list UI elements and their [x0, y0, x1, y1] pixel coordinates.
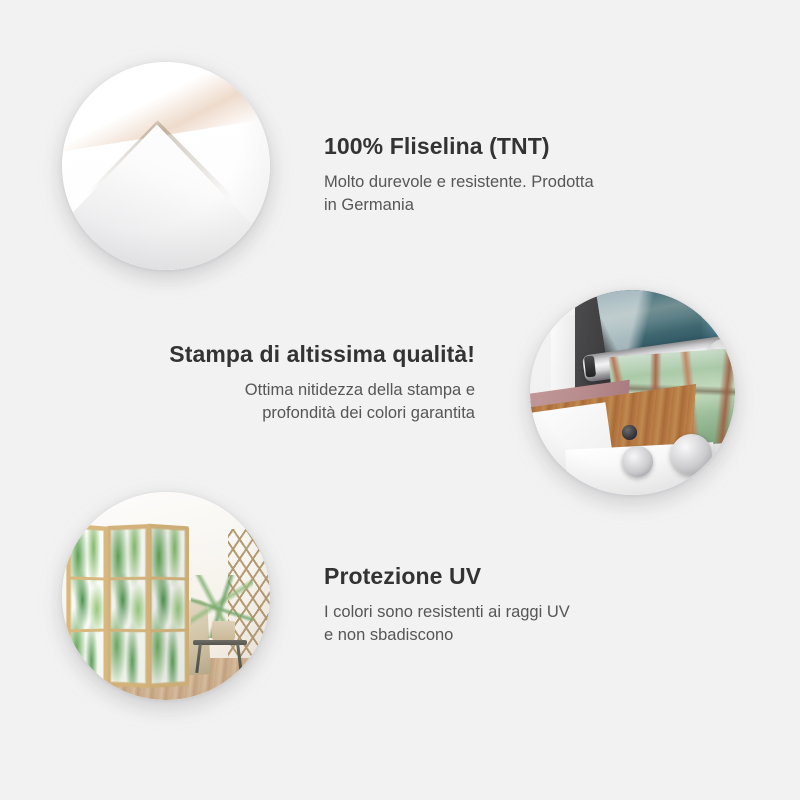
leaf-section: [152, 528, 186, 581]
feature-description-line: profondità dei colori garantita: [155, 402, 475, 425]
feature-description-uv: I colori sono resistenti ai raggi UV e n…: [324, 601, 570, 648]
leaf-section: [71, 580, 104, 632]
feature-title-stampa: Stampa di altissima qualità!: [155, 341, 475, 368]
leaf-section: [71, 528, 104, 581]
leaf-section: [71, 632, 104, 685]
peeled-wallpaper-corner-image: [62, 62, 270, 270]
feature-description-line: Ottima nitidezza della stampa e: [155, 379, 475, 402]
printing-press-inner: [530, 290, 735, 495]
tropical-room-divider-image: [62, 492, 270, 700]
feature-description-line: in Germania: [324, 194, 594, 217]
press-vignette: [530, 290, 735, 495]
leaf-section: [111, 528, 146, 580]
peeled-wallpaper-inner: [62, 62, 270, 270]
leaf-section: [111, 580, 146, 632]
feature-text-uv: Protezione UV I colori sono resistenti a…: [324, 563, 570, 648]
folding-screen: [66, 525, 195, 687]
tropical-room-inner: [62, 492, 270, 700]
printing-press-image: [530, 290, 735, 495]
feature-text-fliselina: 100% Fliselina (TNT) Molto durevole e re…: [324, 133, 594, 218]
feature-description-line: Molto durevole e resistente. Prodotta: [324, 171, 594, 194]
feature-description-line: I colori sono resistenti ai raggi UV: [324, 601, 570, 624]
feature-title-fliselina: 100% Fliselina (TNT): [324, 133, 594, 160]
feature-title-uv: Protezione UV: [324, 563, 570, 590]
leaf-section: [152, 580, 186, 632]
screen-panel: [148, 524, 189, 689]
feature-highlights-stage: 100% Fliselina (TNT) Molto durevole e re…: [0, 0, 800, 800]
feature-description-fliselina: Molto durevole e resistente. Prodotta in…: [324, 171, 594, 218]
screen-panel: [107, 524, 150, 688]
feature-description-line: e non sbadiscono: [324, 624, 570, 647]
leaf-section: [111, 632, 146, 684]
feature-description-stampa: Ottima nitidezza della stampa e profondi…: [155, 379, 475, 426]
screen-panel: [67, 524, 108, 690]
wallpaper-vignette: [62, 62, 270, 270]
feature-text-stampa: Stampa di altissima qualità! Ottima niti…: [155, 341, 475, 426]
leaf-section: [152, 632, 186, 685]
